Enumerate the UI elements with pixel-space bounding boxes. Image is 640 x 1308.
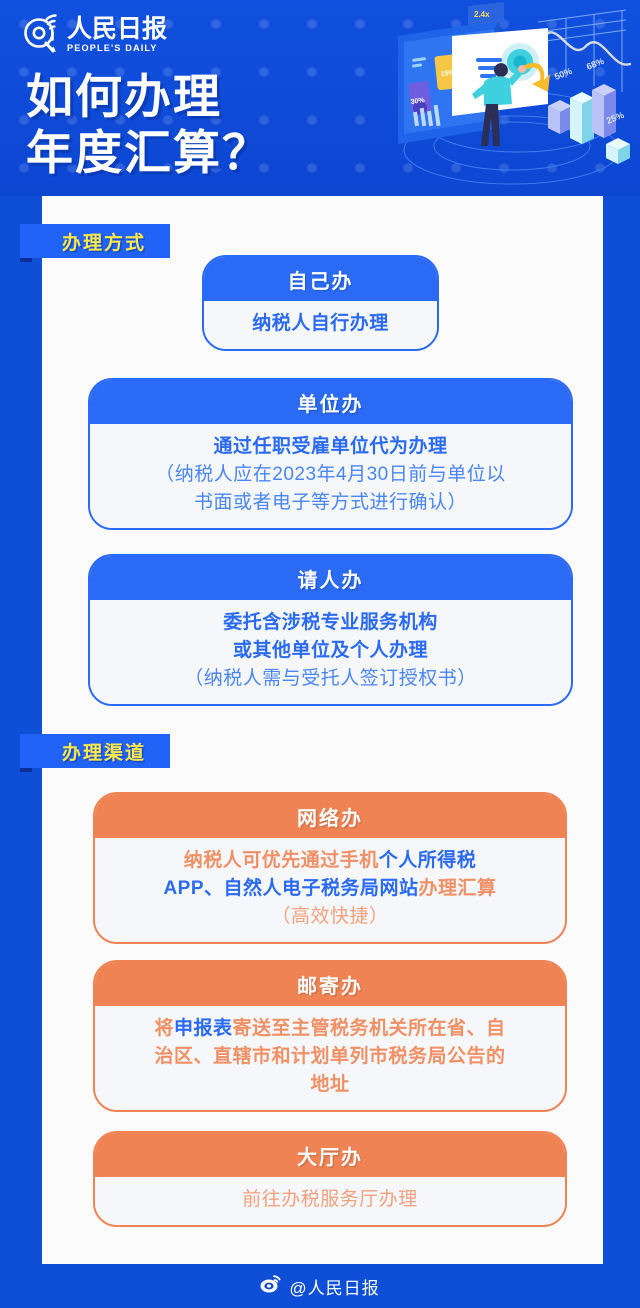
card-body: 前往办税服务厅办理 (95, 1177, 565, 1225)
card-text-highlight: 申报表 (174, 1018, 233, 1039)
card-online-channel[interactable]: 网络办 纳税人可优先通过手机个人所得税 APP、自然人电子税务局网站办理汇算 （… (93, 792, 567, 944)
card-title: 大厅办 (297, 1141, 363, 1170)
card-text-plain: 纳税人可优先通过手机 (184, 850, 379, 871)
logo-chinese-name: 人民日报 (67, 16, 167, 42)
card-text-line: 纳税人自行办理 (218, 310, 423, 338)
card-title: 邮寄办 (297, 970, 363, 999)
card-body: 委托含涉税专业服务机构 或其他单位及个人办理 （纳税人需与受托人签订授权书） (90, 600, 571, 704)
card-body: 将申报表寄送至主管税务机关所在省、自 治区、直辖市和计划单列市税务局公告的 地址 (95, 1006, 565, 1110)
footer-spacer-left (0, 1244, 42, 1264)
card-text-line: （高效快捷） (109, 903, 551, 931)
card-header: 邮寄办 (95, 962, 565, 1006)
page-title: 如何办理 年度汇算？ (26, 70, 271, 182)
section-tag-label: 办理渠道 (62, 738, 146, 765)
section-tag-channels: 办理渠道 (20, 734, 170, 768)
footer-spacer (0, 1244, 640, 1264)
card-text-highlight: APP、自然人电子税务局网站 (163, 878, 418, 899)
card-self-handling[interactable]: 自己办 纳税人自行办理 (202, 255, 439, 351)
svg-text:68%: 68% (585, 56, 605, 72)
svg-text:2.4x: 2.4x (474, 10, 490, 19)
footer-bar: @人民日报 (0, 1264, 640, 1308)
card-text-line: APP、自然人电子税务局网站办理汇算 (109, 875, 551, 903)
card-text-line: 或其他单位及个人办理 (104, 637, 557, 665)
card-agent-handling[interactable]: 请人办 委托含涉税专业服务机构 或其他单位及个人办理 （纳税人需与受托人签订授权… (88, 554, 573, 706)
card-title: 自己办 (288, 265, 354, 294)
at-signal-icon (22, 14, 62, 56)
card-text-line: 委托含涉税专业服务机构 (104, 609, 557, 637)
section-tag-body: 办理方式 (20, 224, 170, 258)
infographic-page: 人民日报 PEOPLE'S DAILY 如何办理 年度汇算？ (0, 0, 640, 1308)
card-header: 单位办 (90, 380, 571, 424)
svg-text:50%: 50% (553, 66, 573, 82)
card-text-line: （纳税人需与受托人签订授权书） (104, 665, 557, 693)
card-mail-channel[interactable]: 邮寄办 将申报表寄送至主管税务机关所在省、自 治区、直辖市和计划单列市税务局公告… (93, 960, 567, 1112)
card-text-line: 书面或者电子等方式进行确认） (104, 489, 557, 517)
card-text-line: 地址 (109, 1071, 551, 1099)
left-blue-strip (0, 196, 42, 1264)
section-tag-methods: 办理方式 (20, 224, 170, 258)
card-body: 纳税人自行办理 (204, 301, 437, 349)
card-header: 网络办 (95, 794, 565, 838)
section-tag-body: 办理渠道 (20, 734, 170, 768)
weibo-icon (260, 1274, 282, 1299)
card-text-plain: 寄送至主管税务机关所在省、自 (233, 1018, 506, 1039)
card-text-line: 治区、直辖市和计划单列市税务局公告的 (109, 1043, 551, 1071)
page-title-line-1: 如何办理 (26, 70, 271, 126)
card-text-line: （纳税人应在2023年4月30日前与单位以 (104, 461, 557, 489)
card-title: 网络办 (297, 802, 363, 831)
card-header: 请人办 (90, 556, 571, 600)
card-text-highlight: 个人所得税 (379, 850, 477, 871)
card-text-line: 纳税人可优先通过手机个人所得税 (109, 847, 551, 875)
card-text-plain: 将 (154, 1018, 174, 1039)
footer-spacer-right (603, 1244, 640, 1264)
card-text-plain: 办理汇算 (419, 878, 497, 899)
section-tag-label: 办理方式 (62, 228, 146, 255)
footer-handle: @人民日报 (289, 1274, 379, 1299)
card-text-line: 通过任职受雇单位代为办理 (104, 433, 557, 461)
card-title: 单位办 (298, 388, 364, 417)
page-title-line-2: 年度汇算？ (26, 126, 271, 182)
peoples-daily-logo: 人民日报 PEOPLE'S DAILY (22, 14, 167, 56)
header-illustration: 2.4x 30% 15% (380, 0, 640, 196)
card-text-line: 前往办税服务厅办理 (109, 1186, 551, 1214)
card-header: 自己办 (204, 257, 437, 301)
header-banner: 人民日报 PEOPLE'S DAILY 如何办理 年度汇算？ (0, 0, 640, 196)
card-employer-handling[interactable]: 单位办 通过任职受雇单位代为办理 （纳税人应在2023年4月30日前与单位以 书… (88, 378, 573, 530)
logo-english-name: PEOPLE'S DAILY (67, 42, 169, 54)
card-hall-channel[interactable]: 大厅办 前往办税服务厅办理 (93, 1131, 567, 1227)
card-text-line: 将申报表寄送至主管税务机关所在省、自 (109, 1015, 551, 1043)
card-body: 纳税人可优先通过手机个人所得税 APP、自然人电子税务局网站办理汇算 （高效快捷… (95, 838, 565, 942)
card-header: 大厅办 (95, 1133, 565, 1177)
card-title: 请人办 (298, 564, 364, 593)
card-body: 通过任职受雇单位代为办理 （纳税人应在2023年4月30日前与单位以 书面或者电… (90, 424, 571, 528)
